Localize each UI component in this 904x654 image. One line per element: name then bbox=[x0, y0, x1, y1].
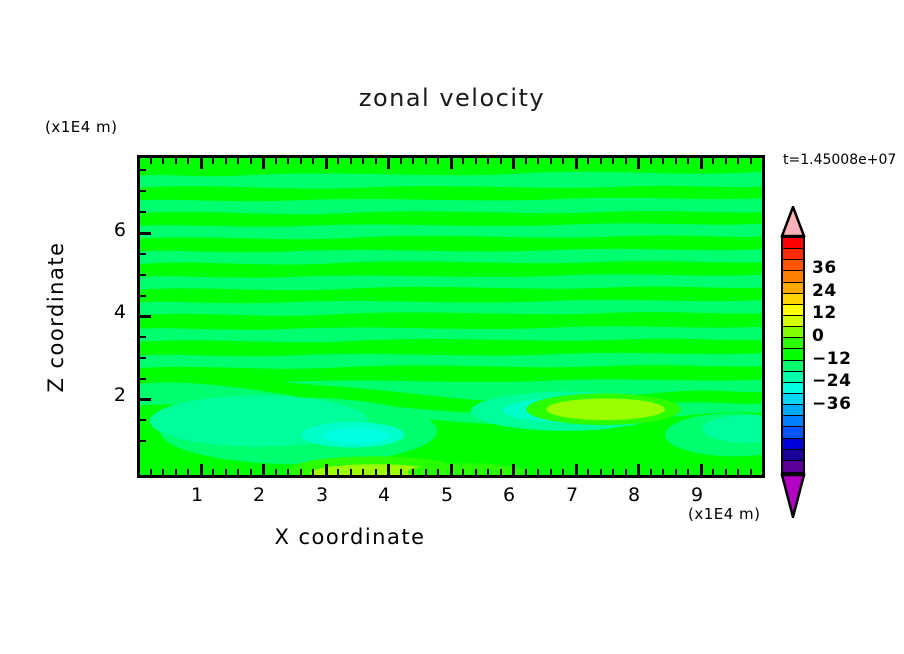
x-minor-tick bbox=[300, 469, 302, 475]
x-tick-label: 7 bbox=[559, 484, 585, 506]
x-minor-tick bbox=[625, 469, 627, 475]
x-top-minor-tick bbox=[225, 158, 227, 164]
x-minor-tick bbox=[187, 469, 189, 475]
x-top-minor-tick bbox=[412, 158, 414, 164]
colorbar-over-arrow bbox=[779, 206, 807, 237]
x-minor-tick bbox=[175, 469, 177, 475]
colorbar-band bbox=[783, 316, 803, 327]
x-minor-tick bbox=[612, 469, 614, 475]
x-top-minor-tick bbox=[437, 158, 439, 164]
x-top-minor-tick bbox=[337, 158, 339, 164]
x-top-minor-tick bbox=[275, 158, 277, 164]
x-major-tick bbox=[325, 464, 328, 475]
x-minor-tick bbox=[675, 469, 677, 475]
x-top-minor-tick bbox=[187, 158, 189, 164]
timestamp-annotation: t=1.45008e+07 bbox=[783, 152, 896, 168]
x-tick-label: 2 bbox=[246, 484, 272, 506]
x-minor-tick bbox=[212, 469, 214, 475]
colorbar-band bbox=[783, 260, 803, 271]
colorbar-band bbox=[783, 416, 803, 427]
x-top-minor-tick bbox=[375, 158, 377, 164]
x-minor-tick bbox=[650, 469, 652, 475]
colorbar-tick-label: 24 bbox=[812, 281, 837, 301]
colorbar-band bbox=[783, 361, 803, 372]
x-top-minor-tick bbox=[475, 158, 477, 164]
colorbar-band bbox=[783, 327, 803, 338]
x-minor-tick bbox=[475, 469, 477, 475]
colorbar-tick-label: 12 bbox=[812, 303, 837, 323]
x-tick-label: 9 bbox=[684, 484, 710, 506]
x-minor-tick bbox=[412, 469, 414, 475]
x-top-major-tick bbox=[700, 158, 703, 169]
x-top-minor-tick bbox=[312, 158, 314, 164]
x-minor-tick bbox=[587, 469, 589, 475]
x-top-minor-tick bbox=[562, 158, 564, 164]
colorbar-band bbox=[783, 271, 803, 282]
x-minor-tick bbox=[500, 469, 502, 475]
y-minor-tick bbox=[140, 253, 146, 255]
colorbar-band bbox=[783, 461, 803, 472]
x-top-minor-tick bbox=[462, 158, 464, 164]
x-minor-tick bbox=[525, 469, 527, 475]
x-minor-tick bbox=[362, 469, 364, 475]
x-major-tick bbox=[262, 464, 265, 475]
chart-title: zonal velocity bbox=[0, 84, 904, 112]
x-top-minor-tick bbox=[300, 158, 302, 164]
colorbar-band bbox=[783, 439, 803, 450]
colorbar-under-arrow bbox=[779, 473, 807, 518]
x-axis-unit-label: (x1E4 m) bbox=[688, 505, 761, 523]
x-tick-label: 8 bbox=[621, 484, 647, 506]
y-major-tick bbox=[140, 315, 151, 318]
x-top-minor-tick bbox=[737, 158, 739, 164]
y-minor-tick bbox=[140, 169, 146, 171]
x-top-minor-tick bbox=[537, 158, 539, 164]
x-major-tick bbox=[575, 464, 578, 475]
x-minor-tick bbox=[550, 469, 552, 475]
x-tick-label: 3 bbox=[309, 484, 335, 506]
velocity-field bbox=[140, 158, 762, 475]
x-tick-label: 1 bbox=[184, 484, 210, 506]
x-top-minor-tick bbox=[362, 158, 364, 164]
x-minor-tick bbox=[600, 469, 602, 475]
colorbar-band bbox=[783, 238, 803, 249]
x-tick-label: 4 bbox=[371, 484, 397, 506]
x-major-tick bbox=[637, 464, 640, 475]
y-minor-tick bbox=[140, 357, 146, 359]
x-minor-tick bbox=[237, 469, 239, 475]
x-minor-tick bbox=[287, 469, 289, 475]
x-top-minor-tick bbox=[525, 158, 527, 164]
x-top-minor-tick bbox=[600, 158, 602, 164]
x-top-minor-tick bbox=[487, 158, 489, 164]
x-minor-tick bbox=[662, 469, 664, 475]
x-minor-tick bbox=[537, 469, 539, 475]
x-minor-tick bbox=[562, 469, 564, 475]
colorbar-tick-label: 0 bbox=[812, 326, 824, 346]
colorbar-band bbox=[783, 305, 803, 316]
colorbar-band bbox=[783, 294, 803, 305]
x-top-minor-tick bbox=[162, 158, 164, 164]
x-top-minor-tick bbox=[587, 158, 589, 164]
x-major-tick bbox=[512, 464, 515, 475]
colorbar-band bbox=[783, 349, 803, 360]
x-minor-tick bbox=[687, 469, 689, 475]
x-minor-tick bbox=[250, 469, 252, 475]
colorbar-tick-label: 36 bbox=[812, 258, 837, 278]
colorbar-band bbox=[783, 338, 803, 349]
x-major-tick bbox=[450, 464, 453, 475]
colorbar-band bbox=[783, 283, 803, 294]
x-top-minor-tick bbox=[687, 158, 689, 164]
x-top-minor-tick bbox=[237, 158, 239, 164]
x-minor-tick bbox=[487, 469, 489, 475]
x-top-major-tick bbox=[387, 158, 390, 169]
x-minor-tick bbox=[162, 469, 164, 475]
y-minor-tick bbox=[140, 440, 146, 442]
x-top-minor-tick bbox=[550, 158, 552, 164]
x-top-minor-tick bbox=[175, 158, 177, 164]
x-minor-tick bbox=[225, 469, 227, 475]
x-minor-tick bbox=[725, 469, 727, 475]
x-top-minor-tick bbox=[650, 158, 652, 164]
x-top-major-tick bbox=[637, 158, 640, 169]
y-minor-tick bbox=[140, 336, 146, 338]
x-top-major-tick bbox=[450, 158, 453, 169]
x-top-major-tick bbox=[512, 158, 515, 169]
x-top-major-tick bbox=[325, 158, 328, 169]
x-top-minor-tick bbox=[212, 158, 214, 164]
x-top-minor-tick bbox=[712, 158, 714, 164]
x-top-minor-tick bbox=[400, 158, 402, 164]
colorbar-band bbox=[783, 249, 803, 260]
y-tick-label: 4 bbox=[104, 301, 126, 323]
x-top-minor-tick bbox=[625, 158, 627, 164]
x-minor-tick bbox=[337, 469, 339, 475]
y-major-tick bbox=[140, 398, 151, 401]
x-top-minor-tick bbox=[725, 158, 727, 164]
x-top-minor-tick bbox=[150, 158, 152, 164]
x-minor-tick bbox=[400, 469, 402, 475]
x-minor-tick bbox=[150, 469, 152, 475]
x-minor-tick bbox=[737, 469, 739, 475]
colorbar-band bbox=[783, 372, 803, 383]
x-major-tick bbox=[387, 464, 390, 475]
x-major-tick bbox=[700, 464, 703, 475]
y-axis-title: Z coordinate bbox=[44, 197, 68, 437]
x-minor-tick bbox=[375, 469, 377, 475]
colorbar-band bbox=[783, 383, 803, 394]
x-top-minor-tick bbox=[612, 158, 614, 164]
x-top-major-tick bbox=[262, 158, 265, 169]
y-minor-tick bbox=[140, 295, 146, 297]
x-top-minor-tick bbox=[750, 158, 752, 164]
y-tick-label: 6 bbox=[104, 219, 126, 241]
x-axis-title: X coordinate bbox=[0, 525, 700, 549]
x-top-major-tick bbox=[200, 158, 203, 169]
x-tick-label: 6 bbox=[496, 484, 522, 506]
x-top-minor-tick bbox=[425, 158, 427, 164]
x-minor-tick bbox=[350, 469, 352, 475]
x-top-major-tick bbox=[575, 158, 578, 169]
x-tick-label: 5 bbox=[434, 484, 460, 506]
x-minor-tick bbox=[437, 469, 439, 475]
contour-plot-area bbox=[137, 155, 765, 478]
y-major-tick bbox=[140, 232, 151, 235]
y-minor-tick bbox=[140, 211, 146, 213]
x-minor-tick bbox=[462, 469, 464, 475]
y-axis-unit-label: (x1E4 m) bbox=[45, 118, 118, 136]
x-minor-tick bbox=[425, 469, 427, 475]
y-tick-label: 2 bbox=[104, 384, 126, 406]
colorbar-tick-label: −12 bbox=[812, 349, 851, 369]
y-minor-tick bbox=[140, 378, 146, 380]
x-top-minor-tick bbox=[287, 158, 289, 164]
colorbar-band bbox=[783, 405, 803, 416]
y-minor-tick bbox=[140, 274, 146, 276]
x-top-minor-tick bbox=[350, 158, 352, 164]
x-top-minor-tick bbox=[662, 158, 664, 164]
x-top-minor-tick bbox=[500, 158, 502, 164]
x-minor-tick bbox=[312, 469, 314, 475]
x-top-minor-tick bbox=[250, 158, 252, 164]
colorbar-band bbox=[783, 394, 803, 405]
x-minor-tick bbox=[275, 469, 277, 475]
x-top-minor-tick bbox=[675, 158, 677, 164]
x-minor-tick bbox=[712, 469, 714, 475]
x-minor-tick bbox=[750, 469, 752, 475]
colorbar-band bbox=[783, 450, 803, 461]
colorbar-band bbox=[783, 427, 803, 438]
y-minor-tick bbox=[140, 190, 146, 192]
colorbar bbox=[781, 236, 805, 474]
colorbar-tick-label: −36 bbox=[812, 394, 851, 414]
colorbar-tick-label: −24 bbox=[812, 371, 851, 391]
y-minor-tick bbox=[140, 419, 146, 421]
x-major-tick bbox=[200, 464, 203, 475]
